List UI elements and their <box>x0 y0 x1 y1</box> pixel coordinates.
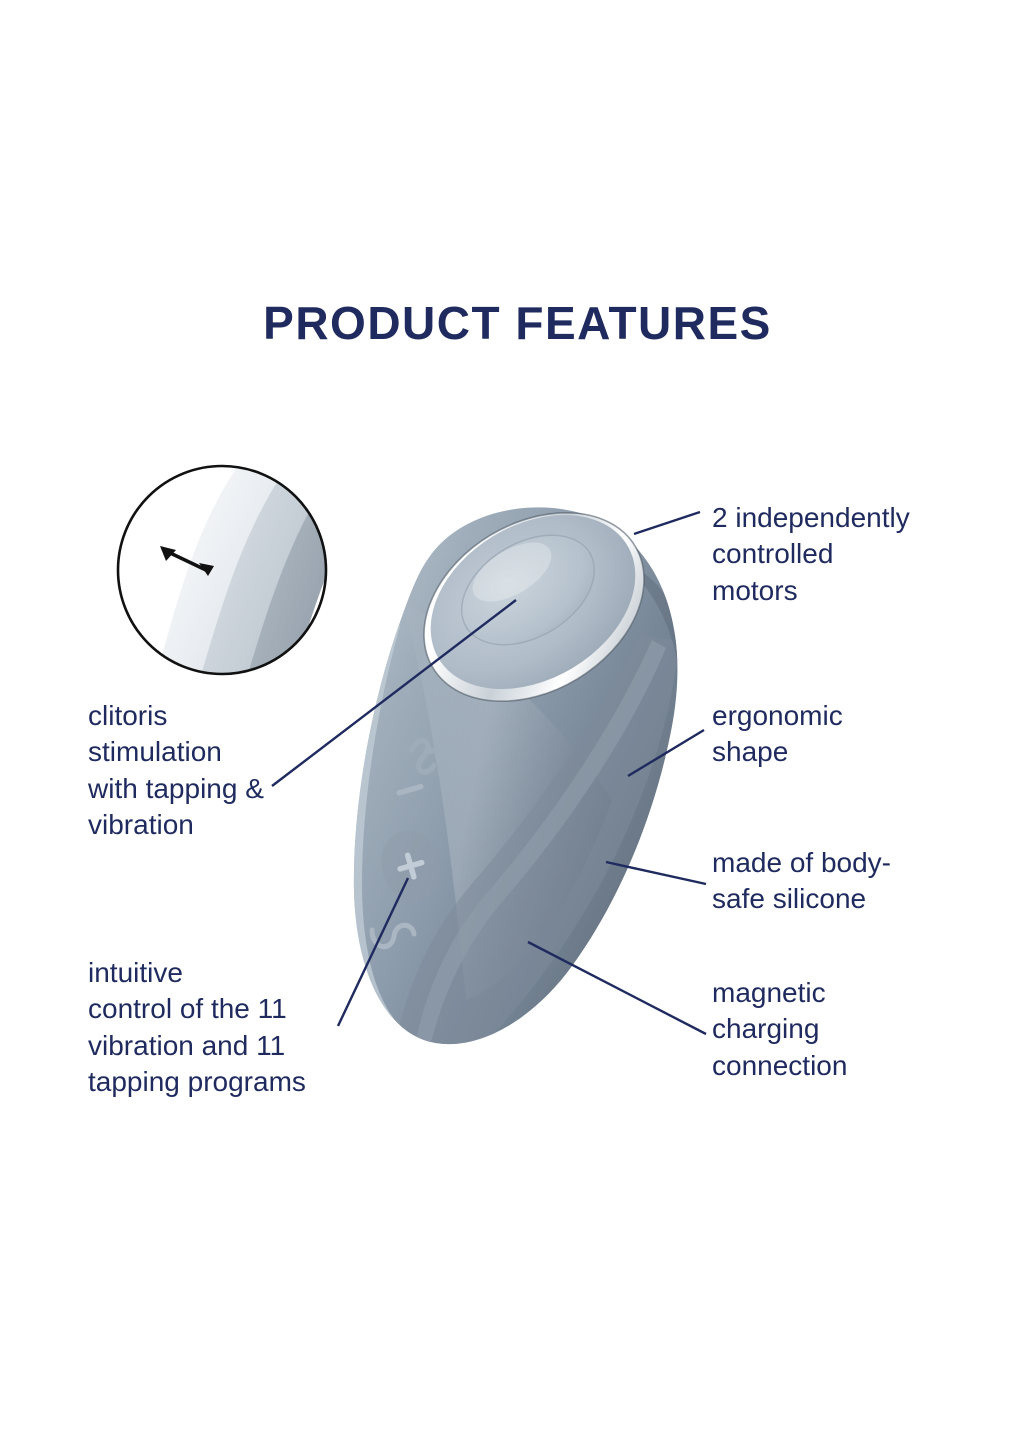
product-features-page: PRODUCT FEATURES <box>0 0 1035 1440</box>
callout-motors: 2 independently controlled motors <box>712 500 972 609</box>
leader-motors <box>634 512 700 534</box>
callout-body-safe-silicone: made of body- safe silicone <box>712 845 982 918</box>
leader-magnetic <box>528 942 706 1034</box>
callout-ergonomic-shape: ergonomic shape <box>712 698 972 771</box>
callout-intuitive-control: intuitive control of the 11 vibration an… <box>88 955 388 1101</box>
tapping-motion-detail-inset <box>116 452 420 706</box>
callout-clitoris-stimulation: clitoris stimulation with tapping & vibr… <box>88 698 358 844</box>
callout-magnetic-charging: magnetic charging connection <box>712 975 972 1084</box>
